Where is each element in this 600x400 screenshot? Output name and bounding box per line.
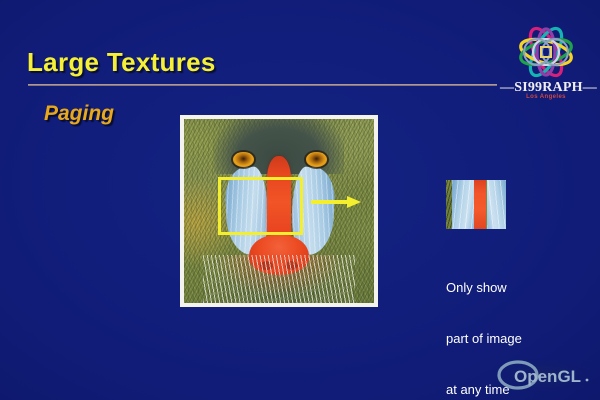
siggraph-text: SI99RAPH (514, 80, 583, 95)
cropped-detail-thumbnail (446, 180, 506, 229)
opengl-logo-icon: OpenGL (492, 358, 594, 392)
page-title: Large Textures (27, 47, 216, 78)
siggraph-city-label: Los Angeles (500, 94, 592, 100)
title-divider (28, 84, 497, 86)
detail-blue-ridge-right (487, 180, 506, 229)
detail-blue-ridge-left (452, 180, 474, 229)
slide-canvas: Large Textures Paging O (0, 0, 600, 400)
slide-subtitle: Paging (44, 102, 114, 126)
caption-line-1: Only show (446, 279, 522, 296)
right-arrow-icon (311, 196, 361, 208)
eye-right (306, 152, 327, 167)
caption-line-2: part of image (446, 330, 522, 347)
eye-left (233, 152, 254, 167)
detail-red-nose (474, 180, 486, 229)
selection-rectangle (218, 177, 303, 235)
svg-text:OpenGL: OpenGL (514, 367, 581, 386)
white-beard-bristles (203, 255, 355, 303)
